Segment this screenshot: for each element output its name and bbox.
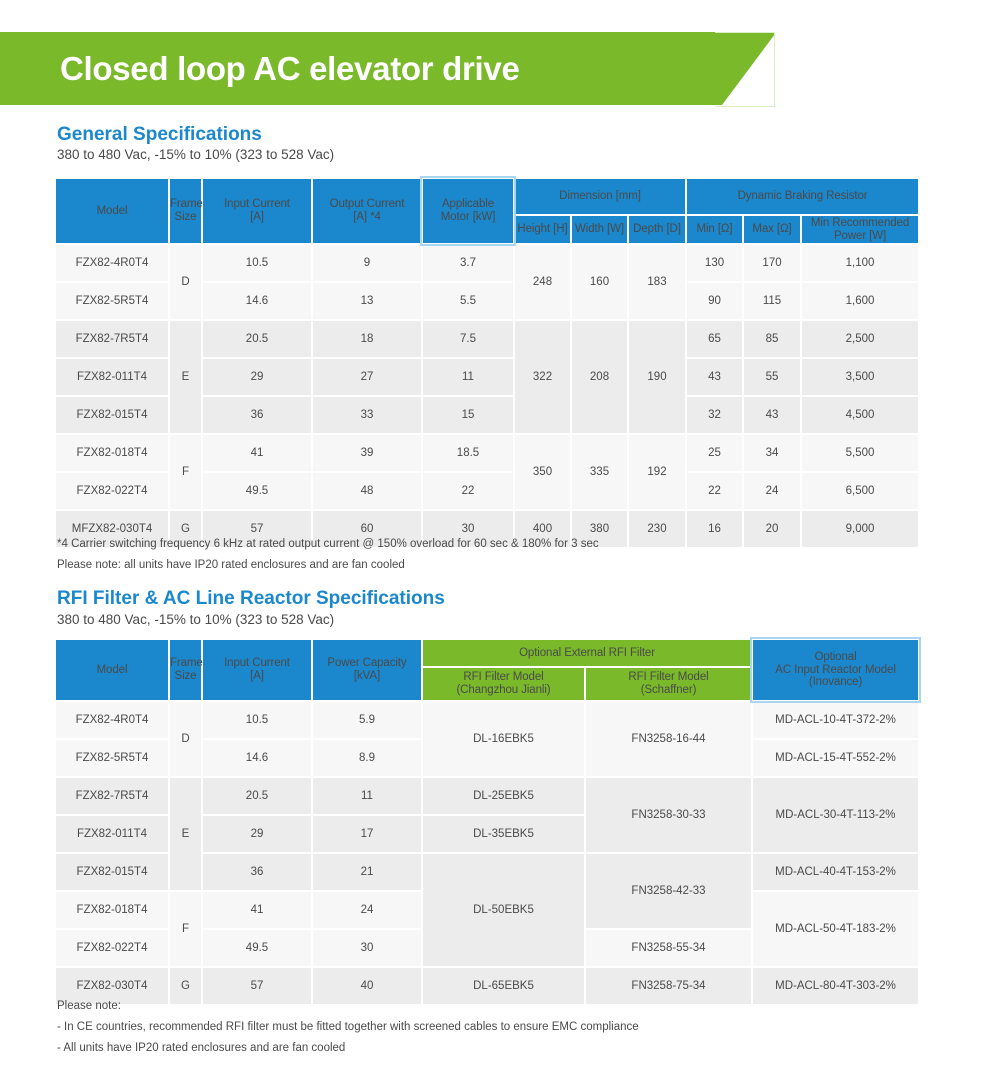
cell-min-recommended-power: 3,500 bbox=[802, 359, 918, 395]
cell-input-current: 14.6 bbox=[203, 283, 311, 319]
cell-max-ohm: 34 bbox=[744, 435, 800, 471]
cell-applicable-motor: 3.7 bbox=[423, 245, 513, 281]
th2-power-capacity-line1: Power Capacity bbox=[313, 657, 421, 670]
cell-max-ohm: 24 bbox=[744, 473, 800, 509]
cell-rfi-jianli: DL-50EBK5 bbox=[423, 854, 584, 966]
th-frame-size-line1: Frame bbox=[170, 198, 201, 211]
cell-min-recommended-power: 6,500 bbox=[802, 473, 918, 509]
cell-max-ohm: 20 bbox=[744, 511, 800, 547]
cell-frame-size: E bbox=[170, 321, 201, 433]
cell-model: FZX82-011T4 bbox=[56, 359, 168, 395]
cell-height: 322 bbox=[515, 321, 570, 433]
cell-rfi-schaffner: FN3258-30-33 bbox=[586, 778, 751, 852]
th-depth: Depth [D] bbox=[629, 216, 685, 243]
th2-optional-external-rfi-filter-group: Optional External RFI Filter bbox=[423, 640, 751, 666]
cell-input-current: 41 bbox=[203, 435, 311, 471]
th2-power-capacity: Power Capacity [kVA] bbox=[313, 640, 421, 700]
cell-input-current: 20.5 bbox=[203, 321, 311, 357]
cell-rfi-schaffner: FN3258-75-34 bbox=[586, 968, 751, 1004]
cell-power-capacity: 40 bbox=[313, 968, 421, 1004]
cell-power-capacity: 11 bbox=[313, 778, 421, 814]
cell-frame-size: G bbox=[170, 968, 201, 1004]
th-dimension-group: Dimension [mm] bbox=[515, 179, 685, 214]
th-min-ohm: Min [Ω] bbox=[687, 216, 742, 243]
cell-ac-input-reactor: MD-ACL-40-4T-153-2% bbox=[753, 854, 918, 890]
cell-power-capacity: 8.9 bbox=[313, 740, 421, 776]
cell-input-current: 36 bbox=[203, 397, 311, 433]
cell-min-recommended-power: 1,600 bbox=[802, 283, 918, 319]
cell-max-ohm: 170 bbox=[744, 245, 800, 281]
cell-model: FZX82-4R0T4 bbox=[56, 245, 168, 281]
section-subheading-rfi-filter: 380 to 480 Vac, -15% to 10% (323 to 528 … bbox=[57, 612, 334, 627]
section-heading-general-specifications: General Specifications bbox=[57, 124, 262, 146]
cell-model: FZX82-018T4 bbox=[56, 435, 168, 471]
cell-depth: 190 bbox=[629, 321, 685, 433]
th-output-current-line1: Output Current bbox=[313, 198, 421, 211]
cell-min-recommended-power: 4,500 bbox=[802, 397, 918, 433]
cell-min-ohm: 65 bbox=[687, 321, 742, 357]
th2-ac-input-reactor: Optional AC Input Reactor Model (Inovanc… bbox=[753, 640, 918, 700]
table-row: FZX82-4R0T4D10.593.72481601831301701,100 bbox=[56, 245, 918, 281]
th-applicable-motor-line2: Motor [kW] bbox=[423, 211, 513, 224]
general-specifications-table: Model Frame Size Input Current [A] Outpu… bbox=[54, 177, 920, 549]
th-output-current-line2: [A] *4 bbox=[313, 211, 421, 224]
section-heading-rfi-filter: RFI Filter & AC Line Reactor Specificati… bbox=[57, 588, 445, 610]
cell-width: 335 bbox=[572, 435, 627, 509]
cell-power-capacity: 21 bbox=[313, 854, 421, 890]
rfi-filter-ac-line-reactor-table: Model Frame Size Input Current [A] Power… bbox=[54, 638, 920, 1006]
cell-max-ohm: 43 bbox=[744, 397, 800, 433]
cell-min-recommended-power: 1,100 bbox=[802, 245, 918, 281]
banner-arrow-outline bbox=[715, 32, 775, 107]
th2-frame-size: Frame Size bbox=[170, 640, 201, 700]
th-input-current-line1: Input Current bbox=[203, 198, 311, 211]
th-input-current-line2: [A] bbox=[203, 211, 311, 224]
cell-model: FZX82-011T4 bbox=[56, 816, 168, 852]
cell-applicable-motor: 5.5 bbox=[423, 283, 513, 319]
cell-power-capacity: 5.9 bbox=[313, 702, 421, 738]
th2-rfi-jianli-line1: RFI Filter Model bbox=[423, 671, 584, 684]
cell-output-current: 33 bbox=[313, 397, 421, 433]
th-dynamic-braking-resistor-group: Dynamic Braking Resistor bbox=[687, 179, 918, 214]
th-max-ohm: Max [Ω] bbox=[744, 216, 800, 243]
th2-frame-size-line1: Frame bbox=[170, 657, 201, 670]
cell-min-recommended-power: 2,500 bbox=[802, 321, 918, 357]
th2-rfi-schaffner: RFI Filter Model (Schaffner) bbox=[586, 668, 751, 700]
th2-rfi-jianli-line2: (Changzhou Jianli) bbox=[423, 684, 584, 697]
cell-applicable-motor: 18.5 bbox=[423, 435, 513, 471]
cell-input-current: 14.6 bbox=[203, 740, 311, 776]
th-min-recommended-power-line2: Power [W] bbox=[802, 230, 918, 243]
th2-frame-size-line2: Size bbox=[170, 670, 201, 683]
cell-model: FZX82-5R5T4 bbox=[56, 740, 168, 776]
cell-min-ohm: 130 bbox=[687, 245, 742, 281]
cell-min-ohm: 90 bbox=[687, 283, 742, 319]
note-please-note: Please note: bbox=[57, 1000, 121, 1012]
cell-model: FZX82-015T4 bbox=[56, 854, 168, 890]
cell-min-ohm: 32 bbox=[687, 397, 742, 433]
th-width: Width [W] bbox=[572, 216, 627, 243]
th2-rfi-schaffner-line1: RFI Filter Model bbox=[586, 671, 751, 684]
table-row: FZX82-7R5T4E20.511DL-25EBK5FN3258-30-33M… bbox=[56, 778, 918, 814]
table-header: Model Frame Size Input Current [A] Power… bbox=[56, 640, 918, 700]
cell-output-current: 13 bbox=[313, 283, 421, 319]
note-ip20: - All units have IP20 rated enclosures a… bbox=[57, 1042, 345, 1054]
th2-input-current-line2: [A] bbox=[203, 670, 311, 683]
th2-power-capacity-line2: [kVA] bbox=[313, 670, 421, 683]
cell-width: 208 bbox=[572, 321, 627, 433]
th-min-recommended-power: Min Recommended Power [W] bbox=[802, 216, 918, 243]
table-row: FZX82-4R0T4D10.55.9DL-16EBK5FN3258-16-44… bbox=[56, 702, 918, 738]
cell-min-ohm: 43 bbox=[687, 359, 742, 395]
cell-depth: 192 bbox=[629, 435, 685, 509]
cell-min-recommended-power: 5,500 bbox=[802, 435, 918, 471]
cell-applicable-motor: 15 bbox=[423, 397, 513, 433]
cell-rfi-schaffner: FN3258-16-44 bbox=[586, 702, 751, 776]
th-output-current: Output Current [A] *4 bbox=[313, 179, 421, 243]
cell-input-current: 41 bbox=[203, 892, 311, 928]
cell-model: FZX82-7R5T4 bbox=[56, 321, 168, 357]
cell-frame-size: F bbox=[170, 892, 201, 966]
cell-input-current: 20.5 bbox=[203, 778, 311, 814]
th-min-recommended-power-line1: Min Recommended bbox=[802, 217, 918, 230]
cell-frame-size: D bbox=[170, 245, 201, 319]
table-body: FZX82-4R0T4D10.593.72481601831301701,100… bbox=[56, 245, 918, 547]
cell-frame-size: D bbox=[170, 702, 201, 776]
th-model: Model bbox=[56, 179, 168, 243]
cell-max-ohm: 85 bbox=[744, 321, 800, 357]
cell-input-current: 10.5 bbox=[203, 702, 311, 738]
cell-model: FZX82-5R5T4 bbox=[56, 283, 168, 319]
th-applicable-motor: Applicable Motor [kW] bbox=[423, 179, 513, 243]
page-title: Closed loop AC elevator drive bbox=[60, 50, 520, 88]
cell-ac-input-reactor: MD-ACL-30-4T-113-2% bbox=[753, 778, 918, 852]
cell-max-ohm: 115 bbox=[744, 283, 800, 319]
table-row: FZX82-030T4G5740DL-65EBK5FN3258-75-34MD-… bbox=[56, 968, 918, 1004]
th2-ac-input-reactor-line3: (Inovance) bbox=[753, 676, 918, 689]
cell-input-current: 36 bbox=[203, 854, 311, 890]
cell-model: FZX82-015T4 bbox=[56, 397, 168, 433]
cell-rfi-jianli: DL-65EBK5 bbox=[423, 968, 584, 1004]
cell-model: FZX82-022T4 bbox=[56, 473, 168, 509]
cell-frame-size: F bbox=[170, 435, 201, 509]
footnote-carrier-frequency: *4 Carrier switching frequency 6 kHz at … bbox=[57, 538, 599, 550]
cell-model: FZX82-018T4 bbox=[56, 892, 168, 928]
cell-width: 160 bbox=[572, 245, 627, 319]
cell-ac-input-reactor: MD-ACL-80-4T-303-2% bbox=[753, 968, 918, 1004]
cell-output-current: 48 bbox=[313, 473, 421, 509]
cell-height: 248 bbox=[515, 245, 570, 319]
th2-input-current: Input Current [A] bbox=[203, 640, 311, 700]
cell-frame-size: E bbox=[170, 778, 201, 890]
cell-model: FZX82-7R5T4 bbox=[56, 778, 168, 814]
th2-ac-input-reactor-line1: Optional bbox=[753, 651, 918, 664]
cell-input-current: 57 bbox=[203, 968, 311, 1004]
cell-power-capacity: 30 bbox=[313, 930, 421, 966]
cell-model: FZX82-4R0T4 bbox=[56, 702, 168, 738]
cell-output-current: 27 bbox=[313, 359, 421, 395]
th2-model: Model bbox=[56, 640, 168, 700]
cell-applicable-motor: 22 bbox=[423, 473, 513, 509]
cell-min-ohm: 22 bbox=[687, 473, 742, 509]
page-banner: Closed loop AC elevator drive bbox=[0, 32, 775, 105]
cell-output-current: 18 bbox=[313, 321, 421, 357]
cell-height: 350 bbox=[515, 435, 570, 509]
footnote-ip20: Please note: all units have IP20 rated e… bbox=[57, 559, 405, 571]
cell-min-ohm: 16 bbox=[687, 511, 742, 547]
section-subheading-general-specifications: 380 to 480 Vac, -15% to 10% (323 to 528 … bbox=[57, 147, 334, 162]
cell-max-ohm: 55 bbox=[744, 359, 800, 395]
th-applicable-motor-line1: Applicable bbox=[423, 198, 513, 211]
table-row: FZX82-018T4F413918.535033519225345,500 bbox=[56, 435, 918, 471]
cell-rfi-schaffner: FN3258-55-34 bbox=[586, 930, 751, 966]
cell-depth: 183 bbox=[629, 245, 685, 319]
table-row: FZX82-7R5T4E20.5187.532220819065852,500 bbox=[56, 321, 918, 357]
th2-rfi-schaffner-line2: (Schaffner) bbox=[586, 684, 751, 697]
cell-ac-input-reactor: MD-ACL-15-4T-552-2% bbox=[753, 740, 918, 776]
cell-rfi-jianli: DL-16EBK5 bbox=[423, 702, 584, 776]
cell-input-current: 49.5 bbox=[203, 473, 311, 509]
cell-output-current: 9 bbox=[313, 245, 421, 281]
cell-applicable-motor: 7.5 bbox=[423, 321, 513, 357]
cell-rfi-jianli: DL-25EBK5 bbox=[423, 778, 584, 814]
cell-ac-input-reactor: MD-ACL-10-4T-372-2% bbox=[753, 702, 918, 738]
th2-rfi-jianli: RFI Filter Model (Changzhou Jianli) bbox=[423, 668, 584, 700]
cell-input-current: 29 bbox=[203, 816, 311, 852]
th2-ac-input-reactor-line2: AC Input Reactor Model bbox=[753, 664, 918, 677]
cell-input-current: 10.5 bbox=[203, 245, 311, 281]
cell-power-capacity: 24 bbox=[313, 892, 421, 928]
th2-input-current-line1: Input Current bbox=[203, 657, 311, 670]
th-input-current: Input Current [A] bbox=[203, 179, 311, 243]
note-ce-countries: - In CE countries, recommended RFI filte… bbox=[57, 1021, 639, 1033]
th-frame-size: Frame Size bbox=[170, 179, 201, 243]
th-frame-size-line2: Size bbox=[170, 211, 201, 224]
table-body: FZX82-4R0T4D10.55.9DL-16EBK5FN3258-16-44… bbox=[56, 702, 918, 1004]
cell-applicable-motor: 11 bbox=[423, 359, 513, 395]
cell-input-current: 49.5 bbox=[203, 930, 311, 966]
cell-min-recommended-power: 9,000 bbox=[802, 511, 918, 547]
cell-output-current: 39 bbox=[313, 435, 421, 471]
table-header: Model Frame Size Input Current [A] Outpu… bbox=[56, 179, 918, 243]
cell-ac-input-reactor: MD-ACL-50-4T-183-2% bbox=[753, 892, 918, 966]
cell-rfi-schaffner: FN3258-42-33 bbox=[586, 854, 751, 928]
th-height: Height [H] bbox=[515, 216, 570, 243]
cell-min-ohm: 25 bbox=[687, 435, 742, 471]
cell-model: FZX82-022T4 bbox=[56, 930, 168, 966]
cell-power-capacity: 17 bbox=[313, 816, 421, 852]
cell-input-current: 29 bbox=[203, 359, 311, 395]
cell-model: FZX82-030T4 bbox=[56, 968, 168, 1004]
cell-depth: 230 bbox=[629, 511, 685, 547]
cell-rfi-jianli: DL-35EBK5 bbox=[423, 816, 584, 852]
